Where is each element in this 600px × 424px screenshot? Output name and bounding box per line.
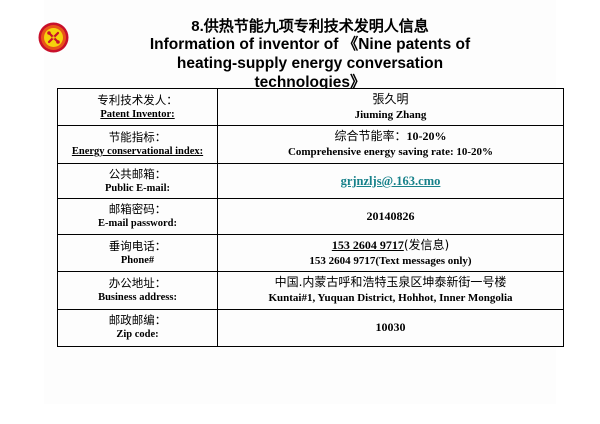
value-english: 153 2604 9717(Text messages only): [222, 254, 559, 269]
label-english: Public E-mail:: [62, 182, 213, 196]
title-line-english-1: Information of inventor of 《Nine patents…: [80, 36, 540, 55]
value-english: Comprehensive energy saving rate: 10-20%: [222, 145, 559, 160]
row-value-public-email: grjnzljs@.163.cmo: [218, 163, 564, 199]
value-percentage: 10-20%: [407, 129, 447, 143]
title-line-english-2: heating-supply energy conversation: [80, 55, 540, 74]
value-zip: 10030: [222, 319, 559, 336]
value-chinese: 中国.内蒙古呼和浩特玉泉区坤泰新街一号楼: [222, 275, 559, 291]
label-chinese: 邮箱密码：: [62, 202, 213, 217]
value-chinese: 综合节能率：: [334, 129, 406, 143]
label-chinese: 邮政邮编：: [62, 313, 213, 328]
label-english: E-mail password:: [62, 217, 213, 231]
row-label-business-address: 办公地址： Business address:: [58, 272, 218, 309]
slide-title: 8.供热节能九项专利技术发明人信息 Information of invento…: [80, 17, 540, 93]
table-row: 节能指标： Energy conservational index: 综合节能率…: [58, 126, 564, 163]
label-english: Business address:: [62, 291, 213, 305]
table-row: 邮箱密码： E-mail password: 20140826: [58, 199, 564, 235]
row-label-email-password: 邮箱密码： E-mail password:: [58, 199, 218, 235]
inventor-information-table: 专利技术发人： Patent Inventor: 張久明 Jiuming Zha…: [57, 88, 564, 347]
row-value-zip-code: 10030: [218, 309, 564, 346]
title-chinese-text: 供热节能九项专利技术发明人信息: [204, 17, 429, 35]
title-line-chinese: 8.供热节能九项专利技术发明人信息: [80, 17, 540, 36]
phone-number-chinese: 153 2604 9717: [332, 238, 404, 252]
crossed-tools-badge-icon: [38, 22, 69, 53]
table-row: 垂询电话： Phone# 153 2604 9717(发信息) 153 2604…: [58, 234, 564, 271]
row-value-email-password: 20140826: [218, 199, 564, 235]
table-row: 办公地址： Business address: 中国.内蒙古呼和浩特玉泉区坤泰新…: [58, 272, 564, 309]
value-chinese-line: 153 2604 9717(发信息): [222, 238, 559, 254]
row-value-energy-index: 综合节能率：10-20% Comprehensive energy saving…: [218, 126, 564, 163]
table-row: 专利技术发人： Patent Inventor: 張久明 Jiuming Zha…: [58, 89, 564, 126]
row-label-phone: 垂询电话： Phone#: [58, 234, 218, 271]
email-link[interactable]: grjnzljs@.163.cmo: [341, 174, 441, 188]
value-chinese: 張久明: [222, 92, 559, 108]
label-chinese: 垂询电话：: [62, 239, 213, 254]
phone-note-chinese: (发信息): [404, 238, 449, 252]
label-chinese: 办公地址：: [62, 276, 213, 291]
value-chinese-line: 综合节能率：10-20%: [222, 129, 559, 145]
label-english: Zip code:: [62, 328, 213, 342]
label-chinese: 专利技术发人：: [62, 93, 213, 108]
row-value-patent-inventor: 張久明 Jiuming Zhang: [218, 89, 564, 126]
table-row: 邮政邮编： Zip code: 10030: [58, 309, 564, 346]
label-english: Energy conservational index:: [62, 145, 213, 159]
value-english: Kuntai#1, Yuquan District, Hohhot, Inner…: [222, 291, 559, 306]
presentation-slide: 8.供热节能九项专利技术发明人信息 Information of invento…: [0, 0, 600, 424]
label-english: Patent Inventor:: [62, 108, 213, 122]
row-label-patent-inventor: 专利技术发人： Patent Inventor:: [58, 89, 218, 126]
label-english: Phone#: [62, 254, 213, 268]
title-number: 8.: [191, 18, 204, 35]
row-label-public-email: 公共邮箱： Public E-mail:: [58, 163, 218, 199]
row-value-phone: 153 2604 9717(发信息) 153 2604 9717(Text me…: [218, 234, 564, 271]
row-value-business-address: 中国.内蒙古呼和浩特玉泉区坤泰新街一号楼 Kuntai#1, Yuquan Di…: [218, 272, 564, 309]
value-password: 20140826: [222, 208, 559, 225]
label-chinese: 节能指标：: [62, 130, 213, 145]
row-label-energy-index: 节能指标： Energy conservational index:: [58, 126, 218, 163]
label-chinese: 公共邮箱：: [62, 167, 213, 182]
row-label-zip-code: 邮政邮编： Zip code:: [58, 309, 218, 346]
table-row: 公共邮箱： Public E-mail: grjnzljs@.163.cmo: [58, 163, 564, 199]
value-english: Jiuming Zhang: [222, 108, 559, 123]
